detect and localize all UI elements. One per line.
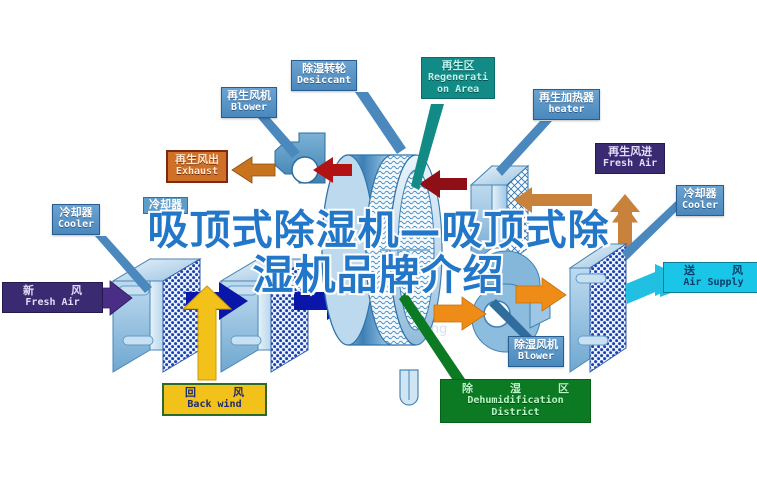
cooler-coil-left-2 xyxy=(221,259,308,372)
label-fresh-air-in: 新 风 Fresh Air xyxy=(2,282,103,313)
label-desiccant-rotor-cn: 除湿转轮 xyxy=(297,63,351,75)
label-regen-heater-en: heater xyxy=(539,104,594,115)
label-regen-fresh-air-in-en: Fresh Air xyxy=(603,158,657,169)
label-regen-blower: 再生风机 Blower xyxy=(221,87,277,118)
label-dehum-blower-cn: 除湿风机 xyxy=(514,339,558,351)
label-regeneration-area: 再生区 Regenerati on Area xyxy=(421,57,495,99)
label-dehumidification-district-cn: 除 湿 区 xyxy=(449,383,582,395)
label-back-wind: 回 风 Back wind xyxy=(162,383,267,416)
label-cooler-right-cn: 冷却器 xyxy=(682,188,718,200)
label-dehumidification-district: 除 湿 区 Dehumidification District xyxy=(440,379,591,423)
label-dehum-blower: 除湿风机 Blower xyxy=(508,336,564,367)
label-cooler-right: 冷却器 Cooler xyxy=(676,185,724,216)
label-cooler-left-inner-cn: 冷却器 xyxy=(149,199,182,211)
label-regeneration-area-en-2: on Area xyxy=(428,84,488,95)
dehumidifier-schematic-artwork: xinhang xyxy=(0,0,757,488)
label-back-wind-en: Back wind xyxy=(172,399,257,410)
label-regen-heater-cn: 再生加热器 xyxy=(539,92,594,104)
label-cooler-left-outer: 冷却器 Cooler xyxy=(52,204,100,235)
diagram-canvas: xinhang xyxy=(0,0,757,488)
label-cooler-left-outer-cn: 冷却器 xyxy=(58,207,94,219)
label-regen-heater: 再生加热器 heater xyxy=(533,89,600,120)
label-cooler-left-inner: 冷却器 xyxy=(143,197,188,214)
cooler-coil-right xyxy=(570,244,626,372)
label-exhaust-cn: 再生风出 xyxy=(175,154,219,166)
drain-pan xyxy=(400,370,418,405)
label-regen-fresh-air-in-cn: 再生风进 xyxy=(603,146,657,158)
label-desiccant-rotor-en: Desiccant xyxy=(297,75,351,86)
label-regeneration-area-cn: 再生区 xyxy=(428,60,488,72)
label-cooler-left-outer-en: Cooler xyxy=(58,219,94,230)
label-exhaust: 再生风出 Exhaust xyxy=(166,150,228,183)
heater-coil xyxy=(471,166,528,264)
exhaust-arrow xyxy=(232,157,275,183)
label-dehumidification-district-en-2: District xyxy=(449,407,582,418)
label-air-supply-cn: 送 风 xyxy=(671,265,756,277)
label-back-wind-cn: 回 风 xyxy=(172,387,257,399)
label-regen-blower-en: Blower xyxy=(227,102,271,113)
label-fresh-air-in-en: Fresh Air xyxy=(10,297,95,308)
label-regen-fresh-air-in: 再生风进 Fresh Air xyxy=(595,143,665,174)
label-cooler-right-en: Cooler xyxy=(682,200,718,211)
label-exhaust-en: Exhaust xyxy=(175,166,219,177)
label-desiccant-rotor: 除湿转轮 Desiccant xyxy=(291,60,357,91)
cooler-coil-left-1 xyxy=(113,259,200,372)
label-air-supply: 送 风 Air Supply xyxy=(663,262,757,293)
label-dehum-blower-en: Blower xyxy=(514,351,558,362)
label-air-supply-en: Air Supply xyxy=(671,277,756,288)
label-fresh-air-in-cn: 新 风 xyxy=(10,285,95,297)
label-regen-blower-cn: 再生风机 xyxy=(227,90,271,102)
label-dehumidification-district-en-1: Dehumidification xyxy=(449,395,582,406)
label-regeneration-area-en-1: Regenerati xyxy=(428,72,488,83)
